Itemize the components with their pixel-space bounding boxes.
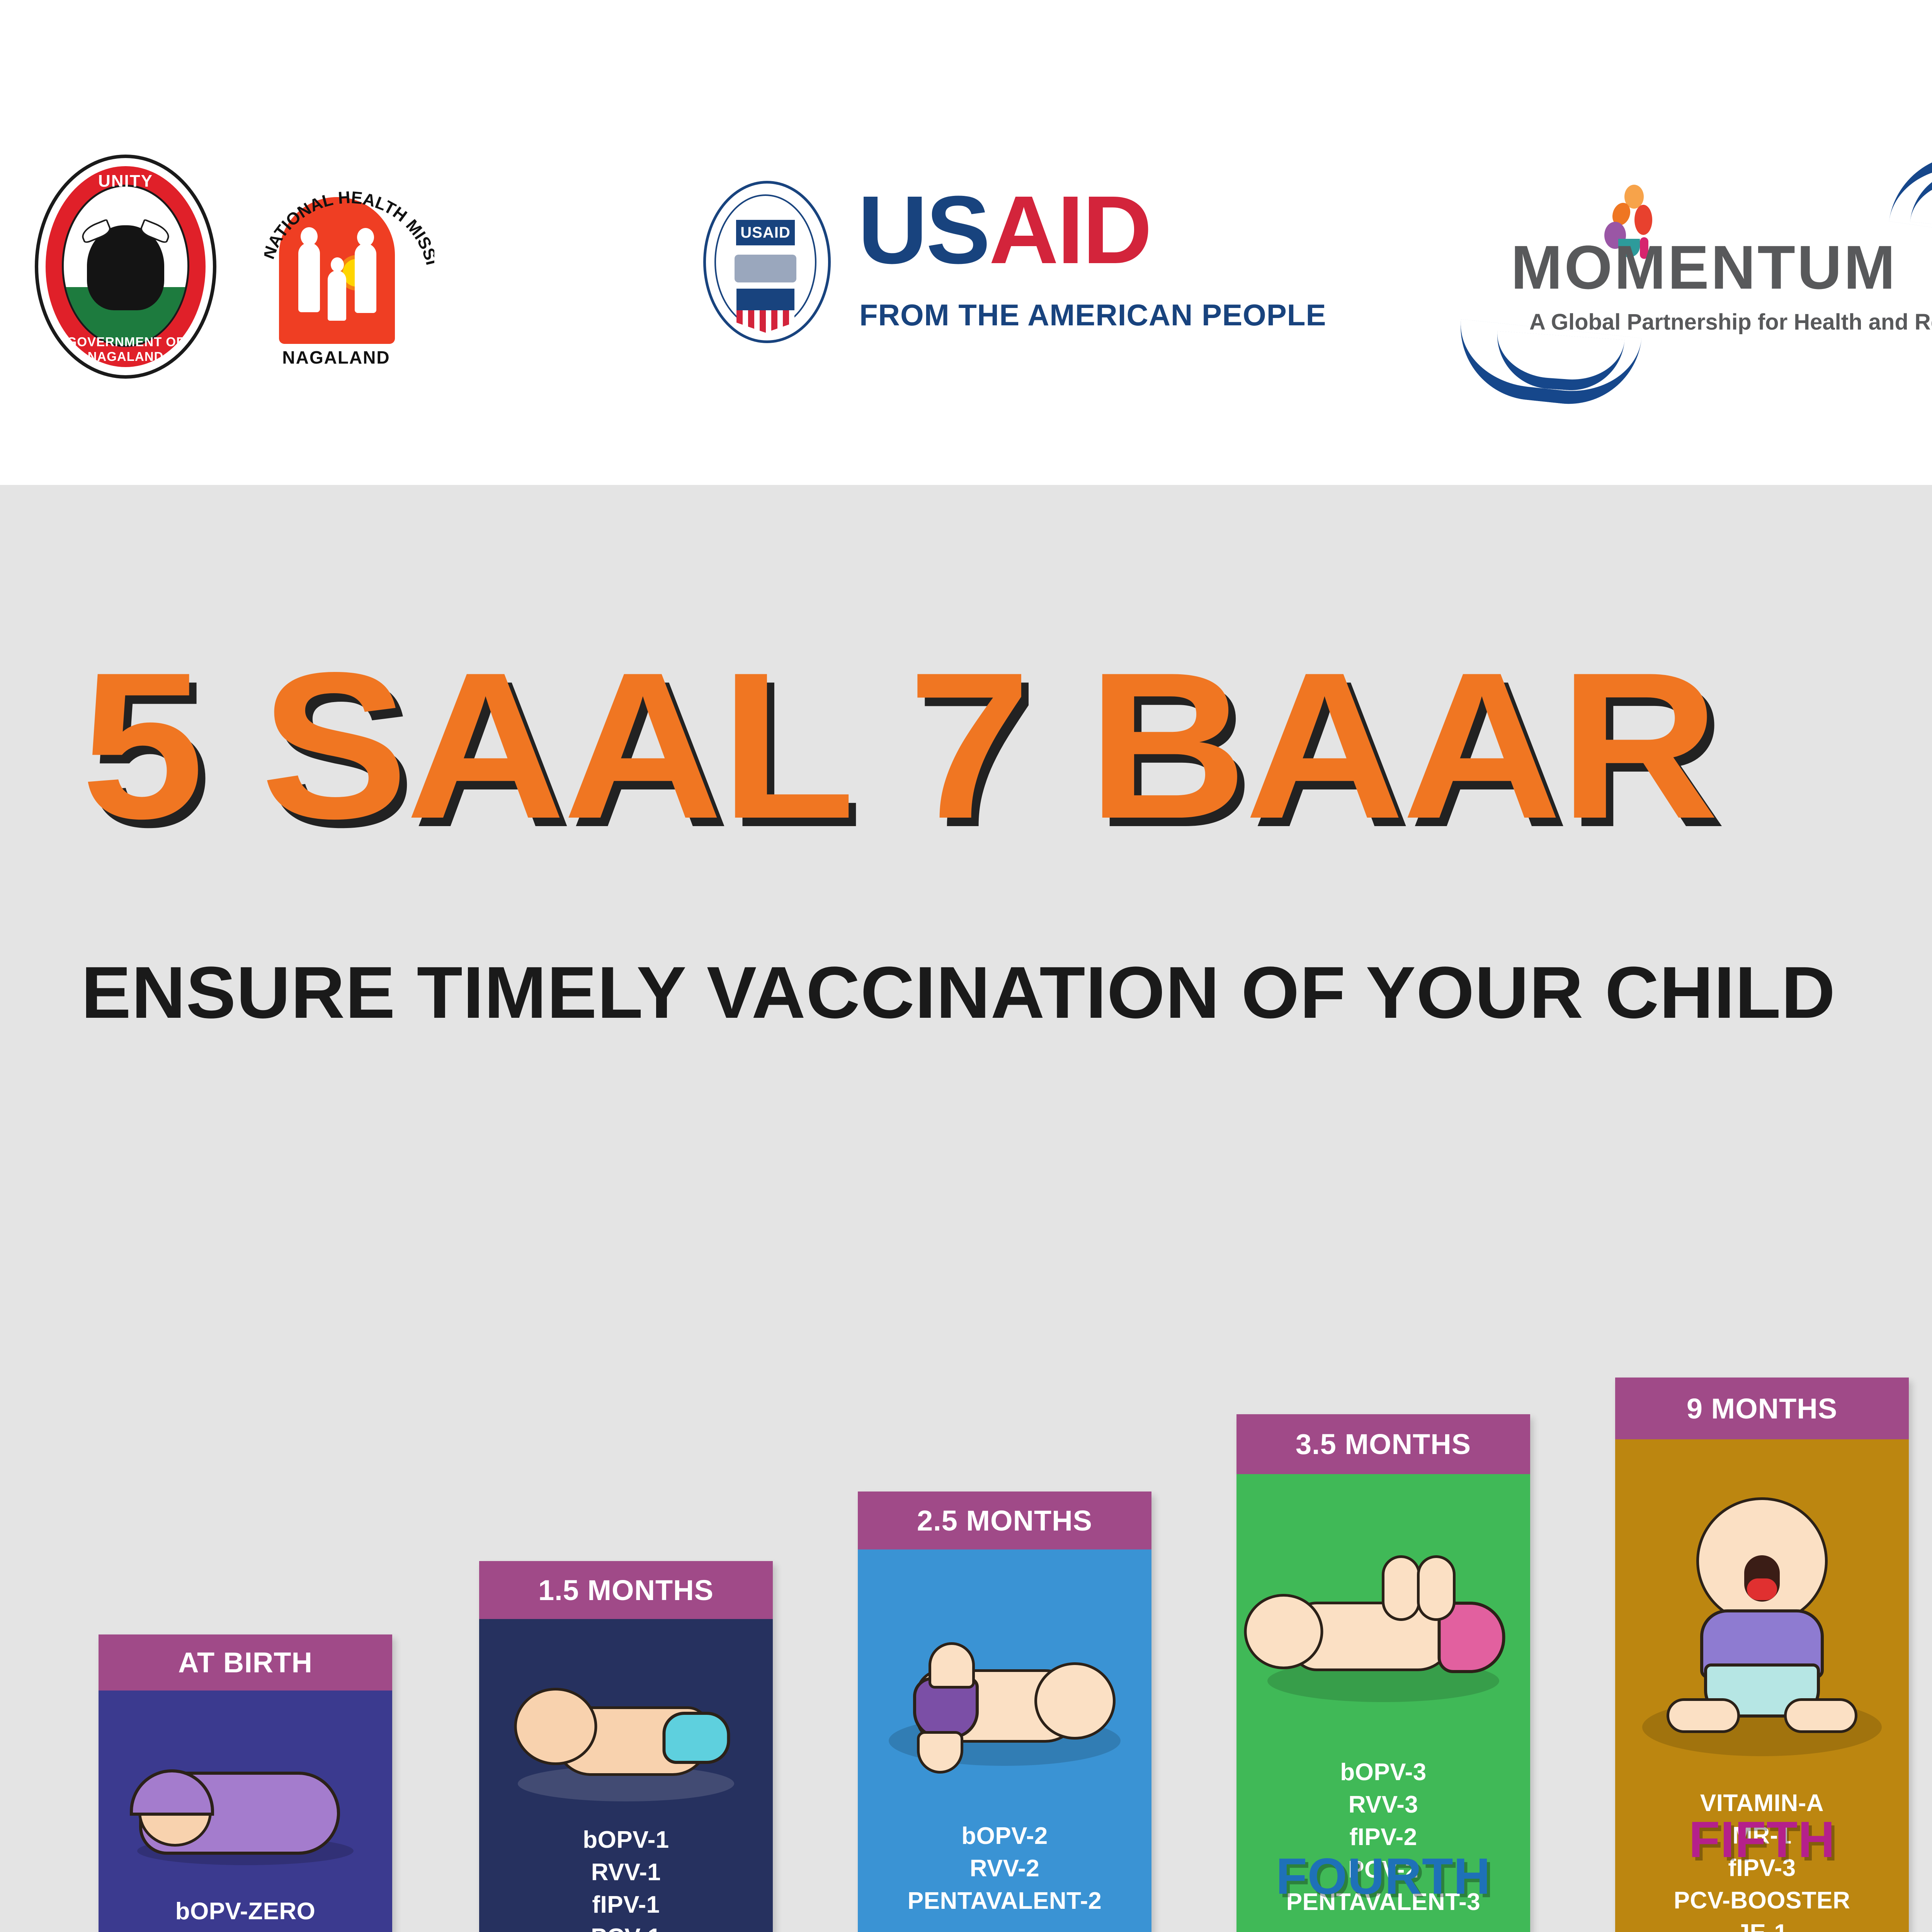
illustration-baby-tummy-down xyxy=(479,1669,773,1808)
ordinal-label-5: FIFTH xyxy=(1592,1810,1932,1869)
bar-column-2-5-months: 2.5 MONTHS bOPV-2 RVV-2 PENTAVALENT-2 xyxy=(858,1492,1151,1932)
vaccine-item: bOPV-2 xyxy=(858,1820,1151,1852)
vaccine-item: bOPV-1 xyxy=(479,1824,773,1856)
chart-bar-1[interactable]: AT BIRTH bOPV-ZERO BCV HEPATITIS B (BIRT… xyxy=(99,1634,392,1932)
ordinal-label-4: FOURTH xyxy=(1213,1847,1553,1905)
age-label-5: 9 MONTHS xyxy=(1615,1378,1909,1439)
vaccine-item: PENTAVALENT-2 xyxy=(858,1885,1151,1917)
vaccine-item: bOPV-ZERO xyxy=(99,1895,392,1928)
vaccine-item: PCV-1 xyxy=(479,1921,773,1932)
illustration-baby-sitting-yawning xyxy=(1615,1482,1909,1760)
vaccine-item: BCV xyxy=(99,1928,392,1932)
art-tongue xyxy=(1747,1578,1777,1600)
age-label-3: 2.5 MONTHS xyxy=(858,1492,1151,1549)
art-baby-leg-down xyxy=(917,1731,963,1774)
vaccine-list-1: bOPV-ZERO BCV HEPATITIS B (BIRTH DOSE) xyxy=(99,1895,392,1932)
age-label-1: AT BIRTH xyxy=(99,1634,392,1690)
ordinal-label-3: THIRD xyxy=(835,1924,1175,1932)
age-label-2: 1.5 MONTHS xyxy=(479,1561,773,1619)
art-baby-leg-up xyxy=(929,1642,975,1689)
vaccine-item: fIPV-1 xyxy=(479,1889,773,1921)
art-baby-head xyxy=(1034,1662,1116,1740)
art-leg-left xyxy=(1667,1698,1740,1733)
art-baby-leg-left xyxy=(1382,1555,1420,1621)
vaccine-item: RVV-2 xyxy=(858,1852,1151,1885)
vaccine-item: bOPV-3 xyxy=(1236,1756,1530,1789)
bar-body-2: bOPV-1 RVV-1 fIPV-1 PCV-1 PENTAVALENT-1 xyxy=(479,1619,773,1932)
bar-body-3: bOPV-2 RVV-2 PENTAVALENT-2 xyxy=(858,1549,1151,1932)
age-label-4: 3.5 MONTHS xyxy=(1236,1414,1530,1474)
illustration-baby-holding-feet xyxy=(1236,1544,1530,1721)
vaccination-schedule-chart: AT BIRTH bOPV-ZERO BCV HEPATITIS B (BIRT… xyxy=(0,0,1932,1932)
chart-bar-5[interactable]: 9 MONTHS VITAMIN-A MR-1 fIPV-3 PCV-BOO xyxy=(1615,1378,1909,1932)
art-baby-head xyxy=(1244,1594,1323,1669)
vaccine-list-2: bOPV-1 RVV-1 fIPV-1 PCV-1 PENTAVALENT-1 xyxy=(479,1824,773,1932)
vaccine-item: PCV-BOOSTER xyxy=(1615,1884,1909,1917)
chart-bar-2[interactable]: 1.5 MONTHS bOPV-1 RVV-1 fIPV-1 PCV-1 PEN… xyxy=(479,1561,773,1932)
vaccine-item: JE-1 xyxy=(1615,1917,1909,1932)
illustration-baby-lying xyxy=(858,1619,1151,1785)
chart-bar-4[interactable]: 3.5 MONTHS bOPV-3 RVV-3 fIPV-2 PCV-2 PEN… xyxy=(1236,1414,1530,1932)
bar-column-1-5-months: 1.5 MONTHS bOPV-1 RVV-1 fIPV-1 PCV-1 PEN… xyxy=(479,1561,773,1932)
vaccine-list-3: bOPV-2 RVV-2 PENTAVALENT-2 xyxy=(858,1820,1151,1917)
bar-body-1: bOPV-ZERO BCV HEPATITIS B (BIRTH DOSE) xyxy=(99,1690,392,1932)
art-baby-leg-right xyxy=(1417,1555,1456,1621)
art-diaper xyxy=(663,1712,730,1764)
art-baby-head xyxy=(514,1688,597,1765)
art-leg-right xyxy=(1784,1698,1857,1733)
chart-bar-3[interactable]: 2.5 MONTHS bOPV-2 RVV-2 PENTAVALENT-2 TH… xyxy=(858,1492,1151,1932)
illustration-swaddled-newborn xyxy=(99,1748,392,1876)
bar-column-at-birth: AT BIRTH bOPV-ZERO BCV HEPATITIS B (BIRT… xyxy=(99,1634,392,1932)
vaccine-item: RVV-1 xyxy=(479,1856,773,1889)
vaccine-item: RVV-3 xyxy=(1236,1789,1530,1821)
